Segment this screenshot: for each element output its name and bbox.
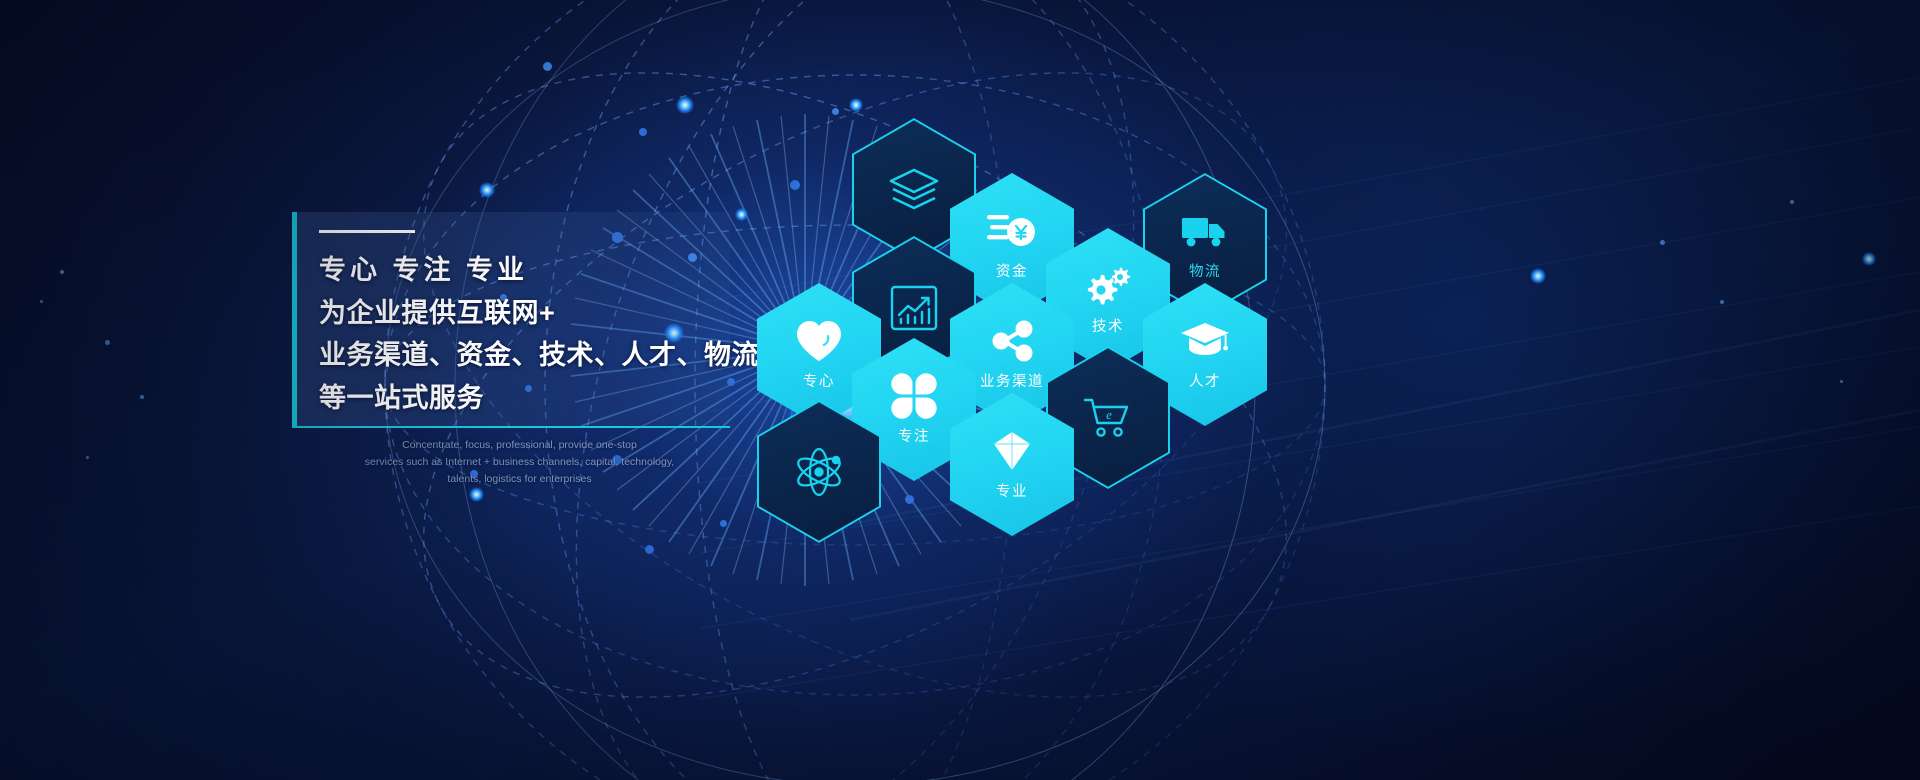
hex-label-talent: 人才 [1189,370,1221,391]
graduation-cap-icon [1180,318,1230,364]
atom-icon [793,449,845,495]
gears-icon [1084,263,1132,309]
hex-content: 资金 [987,208,1037,281]
hex-content [888,167,940,213]
heart-icon [795,318,843,364]
hex-content [793,449,845,495]
hex-content: 技术 [1084,263,1132,336]
hex-content: 专业 [992,428,1032,501]
diamond-icon [992,428,1032,474]
hex-label-capital: 资金 [996,260,1028,281]
layers-icon [888,167,940,213]
share-network-icon [990,318,1034,364]
bar-chart-icon [890,285,938,331]
hex-content [890,285,938,331]
shopping-cart-icon: e [1083,395,1133,441]
hex-label-devotion: 专心 [803,370,835,391]
hex-label-tech: 技术 [1092,315,1124,336]
clover-icon [891,373,937,419]
hex-label-pro: 专业 [996,480,1028,501]
hex-content: 专注 [891,373,937,446]
svg-text:e: e [1106,407,1112,422]
hex-content: 专心 [795,318,843,391]
banner-background: 专心 专注 专业 为企业提供互联网+ 业务渠道、资金、技术、人才、物流 等一站式… [0,0,1920,780]
hex-content: 物流 [1181,208,1229,281]
hex-content: e [1083,395,1133,441]
money-coin-icon [987,208,1037,254]
hex-content: 人才 [1180,318,1230,391]
hexagon-grid: 资金 物流 技术 业务渠道 人才 专心 [0,0,1920,780]
hex-label-focus: 专注 [898,425,930,446]
truck-icon [1181,208,1229,254]
hex-label-logistics: 物流 [1189,260,1221,281]
hex-content: 业务渠道 [980,318,1044,391]
hex-label-channels: 业务渠道 [980,370,1044,391]
